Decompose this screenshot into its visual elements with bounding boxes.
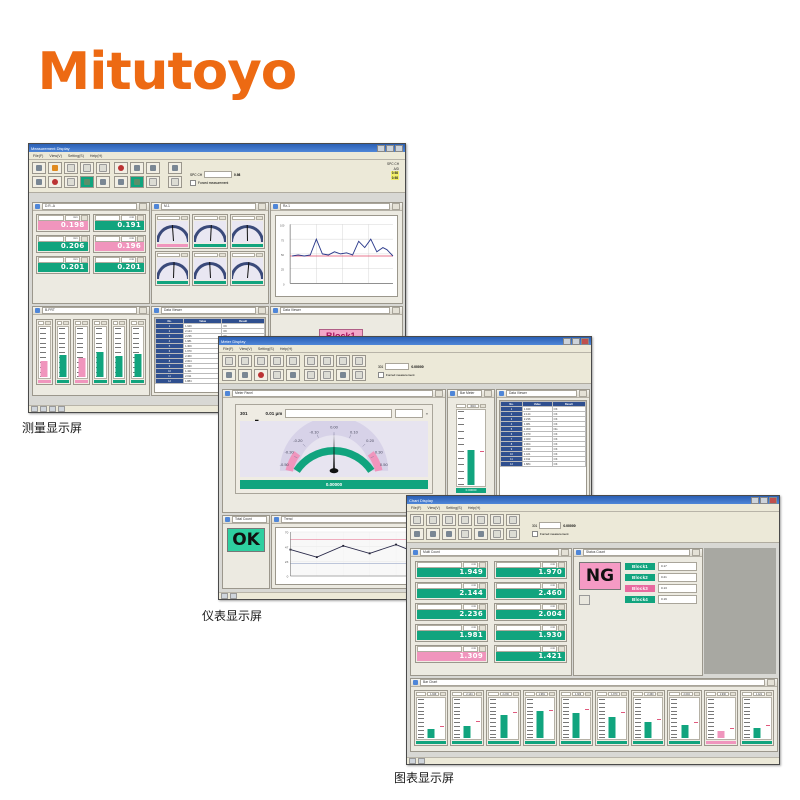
digital-readout-cell[interactable]: mm0.201 (93, 256, 147, 274)
measure-field-input[interactable] (385, 363, 409, 370)
window2-titlebar[interactable]: Meter Display (219, 337, 591, 345)
chevron-down-icon[interactable] (219, 253, 226, 257)
window3-window-buttons[interactable] (751, 497, 777, 504)
multicount-grid: mm1.949mm2.144mm2.236mm1.981mm1.309 mm1.… (411, 557, 571, 667)
tool-record-icon[interactable] (254, 369, 268, 381)
table-row[interactable]: 121.884OK (501, 462, 586, 467)
tool-paste-icon[interactable] (286, 355, 300, 367)
menu-setting[interactable]: Setting(S) (258, 347, 274, 351)
menu-file[interactable]: File(F) (411, 506, 421, 510)
tool-table-icon[interactable] (320, 369, 334, 381)
tool-table-icon[interactable] (130, 176, 144, 188)
tool-camera-icon[interactable] (474, 528, 488, 540)
tool-meter-icon[interactable] (304, 369, 318, 381)
bar-label (561, 692, 571, 696)
tool-chart-icon[interactable] (304, 355, 318, 367)
panel-multicount-title[interactable]: Multi Count (420, 549, 559, 556)
chevron-down-icon[interactable] (621, 692, 627, 696)
bar-status-bar (131, 380, 144, 383)
menu-setting[interactable]: Setting(S) (446, 506, 462, 510)
vertical-bar-gauge[interactable]: 1.421 (740, 690, 774, 746)
bar-meter-header[interactable]: 3016 (456, 404, 486, 408)
gauge-face (194, 221, 225, 243)
bar-status-bar (742, 741, 772, 744)
panel-table2-titlebar[interactable]: Data Viewer (497, 390, 589, 398)
vertical-bar-gauge[interactable] (129, 319, 146, 385)
digital-readout-cell[interactable]: mm0.206 (36, 235, 90, 253)
status-left-col: NG (579, 562, 621, 605)
tool-grid-icon[interactable] (352, 355, 366, 367)
panel-judge-title[interactable]: Total Count (232, 516, 267, 523)
block-value-field[interactable]: 0.13 (658, 584, 697, 593)
chevron-down-icon[interactable] (579, 390, 587, 397)
svg-text:0: 0 (287, 575, 289, 579)
block-label: Block2 (625, 574, 655, 581)
close-icon[interactable] (395, 145, 403, 152)
toolbar-group-1[interactable] (222, 355, 300, 381)
bar-limit-marker (513, 712, 517, 713)
window3-titlebar[interactable]: Chart Display (407, 496, 779, 504)
tool-open-icon[interactable] (32, 162, 46, 174)
vertical-bar-gauge[interactable] (36, 319, 53, 385)
bar-scale (635, 699, 641, 738)
block-status-row[interactable]: Block20.21 (625, 573, 697, 582)
tool-stop-icon[interactable] (426, 528, 440, 540)
panel-barmeter-titlebar[interactable]: Bar Meter (448, 390, 494, 398)
judge-status-badge: OK (227, 528, 265, 552)
block-status-row[interactable]: Block30.13 (625, 584, 697, 593)
bar-status-bar (38, 380, 51, 383)
panel-analog-title[interactable]: M-1 (161, 203, 256, 210)
tool-save-icon[interactable] (238, 355, 252, 367)
chevron-down-icon[interactable] (392, 307, 400, 314)
window3-toolbar[interactable]: 301 0.00000 Forced measurement (407, 512, 779, 543)
panel-bar-chart[interactable]: Bar Chart 1.9492.1442.2361.9811.3091.970… (410, 678, 778, 752)
window2-menubar[interactable]: File(F) View(V) Setting(S) Help(H) (219, 345, 591, 353)
tool-cut-icon[interactable] (254, 355, 268, 367)
bar-label (525, 692, 535, 696)
table-cell: 12 (156, 379, 184, 384)
panel-chart-titlebar[interactable]: Rz-1 (271, 203, 402, 211)
toolbar-measure-field[interactable]: SPC CH 0.98 Forced measurement (190, 171, 240, 186)
bar-fill (681, 725, 688, 738)
chevron-down-icon[interactable] (138, 321, 144, 325)
table-cell: 1.884 (184, 379, 222, 384)
panel-multicount-titlebar[interactable]: Multi Count (411, 549, 571, 557)
tool-split-icon[interactable] (146, 162, 160, 174)
chevron-down-icon[interactable] (258, 203, 266, 210)
analog-gauge[interactable] (230, 214, 265, 249)
panel-bar-titlebar[interactable]: B-PRT (33, 307, 149, 315)
panel-analog-gauges[interactable]: M-1 (151, 202, 269, 304)
tool-save-icon[interactable] (48, 162, 62, 174)
digital-readout-cell[interactable]: mm1.930 (494, 624, 567, 642)
chevron-down-icon[interactable] (730, 692, 736, 696)
tool-grid-icon[interactable] (490, 528, 504, 540)
minimize-icon[interactable] (751, 497, 759, 504)
chevron-down-icon[interactable] (549, 692, 555, 696)
bar-scale (490, 699, 496, 738)
bar-meter-label[interactable] (456, 404, 466, 408)
toolbar-group-1[interactable] (32, 162, 110, 188)
window1-menubar[interactable]: File(F) View(V) Setting(S) Help(H) (29, 152, 405, 160)
tool-zero-icon[interactable] (458, 528, 472, 540)
menu-help[interactable]: Help(H) (90, 154, 102, 158)
panel-block-titlebar[interactable]: Data Viewer (271, 307, 402, 315)
panel-chart-title[interactable]: Rz-1 (280, 203, 390, 210)
tool-bars-icon[interactable] (130, 162, 144, 174)
tool-start-icon[interactable] (222, 369, 236, 381)
panel-table-title[interactable]: Data Viewer (161, 307, 256, 314)
tool-camera-icon[interactable] (96, 176, 110, 188)
tool-copy-icon[interactable] (458, 514, 472, 526)
bar-status-bar (113, 380, 126, 383)
tool-stop-icon[interactable] (238, 369, 252, 381)
chevron-down-icon[interactable] (440, 692, 446, 696)
chevron-down-icon[interactable] (513, 692, 519, 696)
minimize-icon[interactable] (377, 145, 385, 152)
tool-record-icon[interactable] (442, 528, 456, 540)
panel-digital-title[interactable]: D.R.-A (42, 203, 137, 210)
analog-gauge[interactable] (230, 251, 265, 286)
digital-readout-cell[interactable]: mm2.236 (415, 603, 488, 621)
digital-readout-cell[interactable]: mm1.421 (494, 645, 567, 663)
tool-undo-icon[interactable] (490, 514, 504, 526)
panel-analog-titlebar[interactable]: M-1 (152, 203, 268, 211)
vertical-bar-gauge[interactable]: 1.930 (704, 690, 738, 746)
vertical-bar-gauge[interactable] (92, 319, 109, 385)
digital-readout-cell[interactable]: mm0.198 (36, 214, 90, 232)
tool-redo-icon[interactable] (506, 514, 520, 526)
block-status-row[interactable]: Block10.17 (625, 562, 697, 571)
readout-label (496, 625, 541, 631)
digital-readout-cell[interactable]: mm1.981 (415, 624, 488, 642)
bar-status-bar (669, 741, 699, 744)
tool-cut-icon[interactable] (64, 162, 78, 174)
toolbar-measure-field-3[interactable]: 301 0.00000 Forced measurement (532, 522, 576, 537)
bar-meter-body: 3016 0.00000 (456, 404, 486, 493)
bar-limit-marker (621, 712, 625, 713)
chevron-down-icon[interactable] (480, 404, 486, 408)
bar-fill (500, 715, 507, 738)
digital-readout-cell[interactable]: mm2.460 (494, 582, 567, 600)
gauge-expand-icon[interactable]: » (426, 411, 428, 416)
bar-track (597, 697, 627, 740)
chevron-down-icon[interactable] (585, 692, 591, 696)
readout-label (417, 625, 462, 631)
vertical-bar-gauge[interactable] (73, 319, 90, 385)
panel-digital-readouts[interactable]: D.R.-A mm0.198mm0.191mm0.206mm0.196mm0.2… (32, 202, 150, 304)
toolbar-group-1[interactable] (410, 514, 520, 540)
panel-block-title[interactable]: Data Viewer (280, 307, 390, 314)
bar-track (488, 697, 518, 740)
svg-text:23: 23 (285, 560, 289, 564)
tool-open-icon[interactable] (222, 355, 236, 367)
toolbar-group-2[interactable] (114, 162, 182, 188)
panel-icon (273, 308, 278, 313)
close-icon[interactable] (581, 338, 589, 345)
bar-label (742, 692, 752, 696)
forced-measure-checkbox[interactable] (378, 372, 384, 378)
bar-value-label: 1.309 (572, 692, 584, 696)
chevron-down-icon[interactable] (484, 390, 492, 397)
vertical-bar-gauge[interactable]: 1.949 (414, 690, 448, 746)
forced-measure-checkbox[interactable] (532, 531, 538, 537)
bar-label (113, 321, 119, 325)
bar-label (57, 321, 63, 325)
bar-status-bar (416, 741, 446, 744)
bar-limit-marker (440, 726, 444, 727)
window1-titlebar[interactable]: Measurement Display (29, 144, 405, 152)
measure-field-input[interactable] (204, 171, 232, 178)
chevron-down-icon[interactable] (181, 216, 188, 220)
panel-icon (225, 391, 230, 396)
gauge-header-row[interactable]: 301 0.01 μm » (240, 409, 428, 418)
window2-window-buttons[interactable] (563, 338, 589, 345)
data-table2-wrap[interactable]: No.ValueResult11.949OK22.144OK32.236OK41… (499, 400, 587, 510)
block-value-field[interactable]: 0.21 (658, 573, 697, 582)
chevron-down-icon[interactable] (256, 253, 263, 257)
tool-print-icon[interactable] (168, 176, 182, 188)
vertical-bar-gauge[interactable]: 2.460 (631, 690, 665, 746)
status-icon-4 (58, 406, 65, 412)
analog-gauge[interactable] (192, 214, 227, 249)
chevron-down-icon[interactable] (101, 321, 107, 325)
readout-label (95, 236, 121, 242)
menu-setting[interactable]: Setting(S) (68, 154, 84, 158)
bar-meter-field[interactable]: 3016 (467, 404, 479, 408)
chevron-down-icon[interactable] (694, 692, 700, 696)
tool-zero-icon[interactable] (270, 369, 284, 381)
panel-bar-title[interactable]: B-PRT (42, 307, 137, 314)
panel-table-titlebar[interactable]: Data Viewer (152, 307, 268, 315)
trend-chart: 10075 50250 (275, 215, 398, 297)
readout-value: 0.191 (95, 221, 145, 230)
bar-label (416, 692, 426, 696)
readout-label (417, 562, 462, 568)
bar-label (488, 692, 498, 696)
readout-value: 1.970 (496, 568, 565, 577)
panel-status-count[interactable]: Status Count NG Block10.17Block20.21Bloc… (573, 548, 703, 676)
block-label: Block1 (625, 563, 655, 570)
bar-label (38, 321, 44, 325)
digital-readout-cell[interactable]: mm2.144 (415, 582, 488, 600)
vertical-bar-gauge[interactable]: 2.004 (667, 690, 701, 746)
chevron-down-icon[interactable] (139, 307, 147, 314)
menu-view[interactable]: View(V) (239, 347, 252, 351)
maximize-icon[interactable] (760, 497, 768, 504)
panel-barchart-titlebar[interactable]: Bar Chart (411, 679, 777, 687)
tool-copy-icon[interactable] (270, 355, 284, 367)
digital-readout-cell[interactable]: mm0.196 (93, 235, 147, 253)
status-settings-icon[interactable] (579, 595, 590, 605)
tool-record-icon[interactable] (48, 176, 62, 188)
tool-save-icon[interactable] (426, 514, 440, 526)
block-status-row[interactable]: Block40.19 (625, 595, 697, 604)
panel-icon (274, 517, 279, 522)
panel-barmeter-title[interactable]: Bar Meter (457, 390, 482, 397)
tool-split-icon[interactable] (336, 355, 350, 367)
svg-text:50: 50 (281, 253, 284, 257)
analog-gauge[interactable] (192, 251, 227, 286)
tool-window-icon[interactable] (146, 176, 160, 188)
readout-label (417, 646, 462, 652)
panel-table2-title[interactable]: Data Viewer (506, 390, 577, 397)
panel-icon (225, 517, 230, 522)
chevron-down-icon[interactable] (476, 692, 482, 696)
window3-menubar[interactable]: File(F) View(V) Setting(S) Help(H) (407, 504, 779, 512)
bar-label (597, 692, 607, 696)
caption-chart: 图表显示屏 (394, 769, 454, 786)
gauge-aux-input[interactable] (395, 409, 423, 418)
bar-label (669, 692, 679, 696)
tool-refresh-icon[interactable] (80, 176, 94, 188)
tool-grid-icon[interactable] (168, 162, 182, 174)
bar-label (452, 692, 462, 696)
chevron-down-icon[interactable] (119, 321, 125, 325)
bar-meter-track (456, 409, 486, 487)
chevron-down-icon[interactable] (181, 253, 188, 257)
vertical-bar-gauge[interactable]: 1.981 (523, 690, 557, 746)
tool-cut-icon[interactable] (442, 514, 456, 526)
toolbar-measure-field-2[interactable]: 301 0.00000 Forced measurement (378, 363, 424, 378)
digital-readout-cell[interactable]: mm0.191 (93, 214, 147, 232)
panel-barchart-title[interactable]: Bar Chart (420, 679, 765, 686)
menu-view[interactable]: View(V) (49, 154, 62, 158)
measure-field-label: SPC CH (190, 173, 202, 177)
panel-gauge-titlebar[interactable]: Meter Panel (223, 390, 445, 398)
window2-toolbar[interactable]: 301 0.00000 Forced measurement (219, 353, 591, 384)
digital-readout-cell[interactable]: mm1.309 (415, 645, 488, 663)
data-table-2[interactable]: No.ValueResult11.949OK22.144OK32.236OK41… (500, 401, 586, 467)
chevron-down-icon[interactable] (139, 203, 147, 210)
chevron-down-icon[interactable] (657, 692, 663, 696)
gauge-probe-icon (251, 411, 263, 416)
vertical-bar-gauge[interactable]: 1.970 (595, 690, 629, 746)
panel-bar-gauges[interactable]: B-PRT (32, 306, 150, 396)
tool-chart-icon[interactable] (114, 162, 128, 174)
bar-status-bar (452, 741, 482, 744)
bar-track (57, 326, 70, 379)
readout-value: 0.196 (95, 242, 145, 251)
gauge-face (232, 221, 263, 243)
block-label: Block3 (625, 585, 655, 592)
status-icon-1 (221, 593, 228, 599)
digital-readout-grid: mm0.198mm0.191mm0.206mm0.196mm0.201mm0.2… (33, 211, 149, 277)
menu-help[interactable]: Help(H) (468, 506, 480, 510)
block-value-field[interactable]: 0.19 (658, 595, 697, 604)
ng-status-badge: NG (579, 562, 621, 590)
panel-icon (35, 204, 40, 209)
readout-label (95, 257, 121, 263)
vertical-bar-gauge[interactable]: 1.309 (559, 690, 593, 746)
bar-fill (41, 361, 48, 377)
panel-multi-count[interactable]: Multi Count mm1.949mm2.144mm2.236mm1.981… (410, 548, 572, 676)
window1-window-buttons[interactable] (377, 145, 403, 152)
chevron-down-icon[interactable] (561, 549, 569, 556)
maximize-icon[interactable] (572, 338, 580, 345)
tool-paste-icon[interactable] (474, 514, 488, 526)
digital-readout-cell[interactable]: mm0.201 (36, 256, 90, 274)
menu-help[interactable]: Help(H) (280, 347, 292, 351)
bar-track (669, 697, 699, 740)
tool-start-icon[interactable] (410, 528, 424, 540)
bar-limit-marker (694, 722, 698, 723)
vertical-bar-gauge[interactable]: 2.144 (450, 690, 484, 746)
tool-open-icon[interactable] (410, 514, 424, 526)
bar-track (416, 697, 446, 740)
panel-judge-titlebar[interactable]: Total Count (223, 516, 269, 524)
tool-window-icon[interactable] (336, 369, 350, 381)
maximize-icon[interactable] (386, 145, 394, 152)
panel-status-titlebar[interactable]: Status Count (574, 549, 702, 557)
menu-file[interactable]: File(F) (33, 154, 43, 158)
analog-gauge[interactable] (155, 214, 190, 249)
panel-digital-titlebar[interactable]: D.R.-A (33, 203, 149, 211)
analog-gauge[interactable] (155, 251, 190, 286)
chevron-down-icon[interactable] (219, 216, 226, 220)
gauge-value-input[interactable] (285, 409, 391, 418)
tool-copy-icon[interactable] (80, 162, 94, 174)
digital-readout-cell[interactable]: mm2.004 (494, 603, 567, 621)
chevron-down-icon[interactable] (256, 216, 263, 220)
tool-bars-icon[interactable] (320, 355, 334, 367)
close-icon[interactable] (769, 497, 777, 504)
tool-meter-icon[interactable] (114, 176, 128, 188)
menu-view[interactable]: View(V) (427, 506, 440, 510)
chevron-down-icon[interactable] (45, 321, 51, 325)
digital-readout-cell[interactable]: mm1.949 (415, 561, 488, 579)
measure-field-input[interactable] (539, 522, 561, 529)
panel-judge[interactable]: Total Count OK (222, 515, 270, 589)
tool-paste-icon[interactable] (96, 162, 110, 174)
panel-trend-chart[interactable]: Rz-1 10075 50250 (270, 202, 403, 304)
chevron-down-icon[interactable] (63, 321, 69, 325)
block-value-field[interactable]: 0.17 (658, 562, 697, 571)
chevron-down-icon[interactable] (767, 679, 775, 686)
digital-readout-cell[interactable]: mm1.970 (494, 561, 567, 579)
vertical-bar-gauge[interactable]: 2.236 (486, 690, 520, 746)
bar-track (525, 697, 555, 740)
menu-file[interactable]: File(F) (223, 347, 233, 351)
chevron-down-icon[interactable] (82, 321, 88, 325)
tool-print-icon[interactable] (352, 369, 366, 381)
tool-start-icon[interactable] (32, 176, 46, 188)
chevron-down-icon[interactable] (435, 390, 443, 397)
vertical-bar-gauge[interactable] (111, 319, 128, 385)
window1-toolbar[interactable]: SPC CH 0.98 Forced measurement SPC CH A/… (29, 160, 405, 193)
measure-field-value: 0.00000 (411, 365, 423, 369)
toolbar-group-2[interactable] (304, 355, 366, 381)
chevron-down-icon[interactable] (258, 307, 266, 314)
panel-gauge-title[interactable]: Meter Panel (232, 390, 433, 397)
caption-meter: 仪表显示屏 (202, 607, 262, 624)
status-icon-2 (40, 406, 47, 412)
minimize-icon[interactable] (563, 338, 571, 345)
chevron-down-icon[interactable] (766, 692, 772, 696)
tool-camera-icon[interactable] (286, 369, 300, 381)
forced-measure-checkbox[interactable] (190, 180, 196, 186)
chart-display-window[interactable]: Chart Display File(F) View(V) Setting(S)… (406, 495, 780, 765)
vertical-bar-gauge[interactable] (55, 319, 72, 385)
chevron-down-icon[interactable] (692, 549, 700, 556)
measure-field-value: 0.00000 (563, 524, 575, 528)
tool-zero-icon[interactable] (64, 176, 78, 188)
panel-status-title[interactable]: Status Count (583, 549, 690, 556)
chevron-down-icon[interactable] (392, 203, 400, 210)
tool-print-icon[interactable] (506, 528, 520, 540)
bar-status-bar (94, 380, 107, 383)
